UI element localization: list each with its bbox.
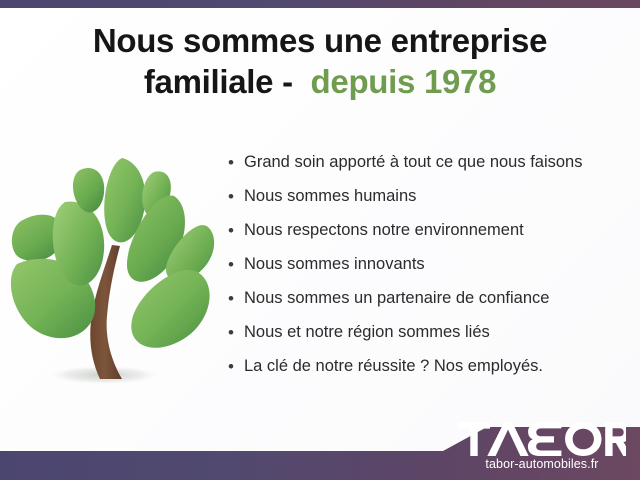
list-item-label: La clé de notre réussite ? Nos employés.: [244, 354, 634, 379]
tree-leaf: [131, 270, 209, 348]
list-item: • Nous sommes un partenaire de confiance: [228, 286, 634, 320]
value-bullet-list: • Grand soin apporté à tout ce que nous …: [228, 150, 634, 388]
title-line-2-prefix: familiale: [144, 63, 273, 100]
list-item-label: Grand soin apporté à tout ce que nous fa…: [244, 150, 634, 175]
title-line-1: Nous sommes une entreprise: [0, 22, 640, 61]
page-title: Nous sommes une entreprise familiale - d…: [0, 22, 640, 102]
list-item-label: Nous sommes humains: [244, 184, 634, 209]
title-line-2: familiale - depuis 1978: [0, 63, 640, 102]
list-item: • Grand soin apporté à tout ce que nous …: [228, 150, 634, 184]
bullet-dot-icon: •: [228, 354, 244, 379]
bullet-dot-icon: •: [228, 184, 244, 209]
list-item-label: Nous et notre région sommes liés: [244, 320, 634, 345]
list-item-label: Nous respectons notre environnement: [244, 218, 634, 243]
title-accent-since-1978: depuis 1978: [311, 63, 497, 100]
tree-illustration: [8, 148, 222, 392]
title-dash: [273, 63, 282, 100]
bullet-dot-icon: •: [228, 218, 244, 243]
list-item: • Nous sommes innovants: [228, 252, 634, 286]
title-space: [293, 63, 311, 100]
list-item: • Nous respectons notre environnement: [228, 218, 634, 252]
bullet-dot-icon: •: [228, 320, 244, 345]
title-dash-glyph: -: [282, 63, 293, 100]
slide-canvas: Nous sommes une entreprise familiale - d…: [0, 0, 640, 480]
list-item: • Nous et notre région sommes liés: [228, 320, 634, 354]
bullet-dot-icon: •: [228, 286, 244, 311]
list-item: • La clé de notre réussite ? Nos employé…: [228, 354, 634, 388]
list-item-label: Nous sommes un partenaire de confiance: [244, 286, 634, 311]
bullet-dot-icon: •: [228, 150, 244, 175]
top-accent-strip: [0, 0, 640, 8]
footer-bar: tabor-automobiles.fr: [0, 400, 640, 480]
footer-bar-shape: [0, 427, 640, 480]
bullet-dot-icon: •: [228, 252, 244, 277]
list-item-label: Nous sommes innovants: [244, 252, 634, 277]
list-item: • Nous sommes humains: [228, 184, 634, 218]
